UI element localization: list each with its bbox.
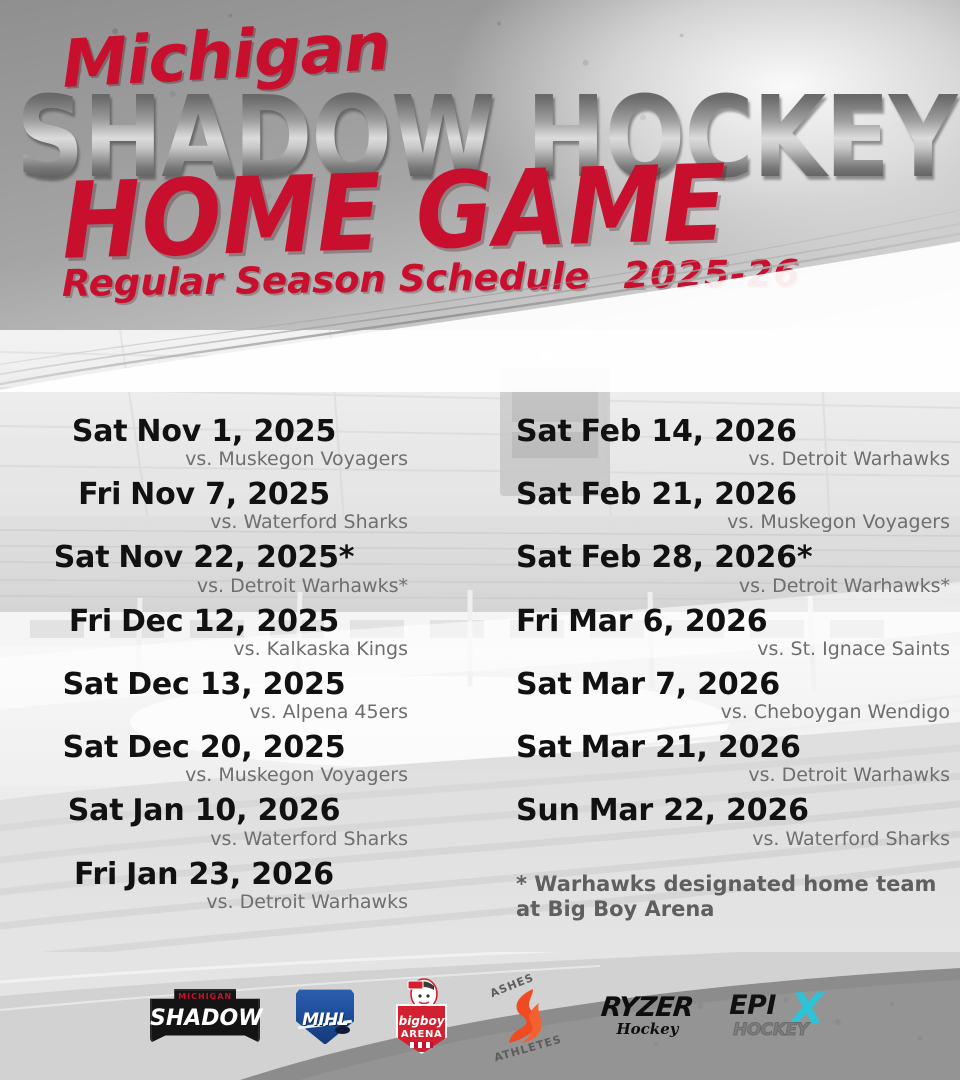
game-opponent: vs. St. Ignace Saints [516,638,960,660]
epix-hockey-text: HOCKEY [733,1020,808,1040]
game-entry: SatJan 10, 2026 vs. Waterford Sharks [0,795,480,849]
checker-stripe-icon [410,1042,434,1048]
game-day-of-week: Sat [63,730,119,765]
game-day-of-week: Sat [516,477,572,512]
schedule-body: SatNov 1, 2025 vs. Muskegon Voyagers Fri… [0,330,960,990]
subtitle-text: Regular Season Schedule [62,255,590,305]
game-day-of-week: Sun [516,793,580,828]
game-opponent: vs. Muskegon Voyagers [0,764,408,786]
game-entry: SunMar 22, 2026 vs. Waterford Sharks [480,795,960,849]
game-entry: SatMar 7, 2026 vs. Cheboygan Wendigo [480,669,960,723]
game-date: SatFeb 28, 2026* [516,542,960,573]
big-boy-logo-text: bigboy [390,1014,454,1028]
game-date-text: Mar 6, 2026 [568,604,767,639]
game-date: SatFeb 21, 2026 [516,479,960,510]
flame-number-two-icon [503,987,543,1045]
sponsor-logo-row: MICHIGAN SHADOW MIHL bigbo [0,952,960,1080]
game-opponent: vs. Detroit Warhawks [516,764,960,786]
game-entry: FriMar 6, 2026 vs. St. Ignace Saints [480,606,960,660]
game-opponent: vs. Detroit Warhawks* [516,575,960,597]
poster-footer: MICHIGAN SHADOW MIHL bigbo [0,952,960,1080]
shadow-logo-top-text: MICHIGAN [150,992,260,1001]
game-opponent: vs. Muskegon Voyagers [0,448,408,470]
game-date-text: Feb 21, 2026 [581,477,797,512]
sponsor-logo-ashes-2-athletes[interactable]: ASHES ATHLETES [487,977,556,1055]
game-date-text: Dec 20, 2025 [127,730,345,765]
game-opponent: vs. Detroit Warhawks [516,448,960,470]
game-date: SatJan 10, 2026 [0,795,408,826]
sponsor-logo-big-boy-arena[interactable]: bigboy ARENA [390,978,454,1054]
game-entry: SatFeb 21, 2026 vs. Muskegon Voyagers [480,479,960,533]
season-years: 2025-26 [623,252,800,297]
shadow-logo-main-text: SHADOW [150,1006,260,1031]
game-entry: SatNov 1, 2025 vs. Muskegon Voyagers [0,416,480,470]
game-day-of-week: Fri [69,604,112,639]
game-date-text: Dec 12, 2025 [121,604,339,639]
game-opponent: vs. Detroit Warhawks* [0,575,408,597]
poster-root: Michigan SHADOW HOCKEY HOME GAME Regular… [0,0,960,1080]
game-date-text: Jan 23, 2026 [126,857,334,892]
sponsor-logo-epix-hockey[interactable]: EPI X HOCKEY [729,990,830,1042]
ryzer-hockey-text: Hockey [617,1020,679,1038]
game-day-of-week: Fri [78,477,121,512]
game-date-text: Jan 10, 2026 [132,793,340,828]
game-day-of-week: Sat [516,730,572,765]
game-day-of-week: Fri [74,857,117,892]
game-date-text: Nov 1, 2025 [136,414,336,449]
epix-logo-text: EPI [729,990,776,1021]
game-day-of-week: Sat [516,667,572,702]
game-date-text: Mar 7, 2026 [581,667,780,702]
big-boy-arena-text: ARENA [390,1029,454,1040]
game-date-text: Mar 22, 2026 [589,793,809,828]
game-entry: SatDec 20, 2025 vs. Muskegon Voyagers [0,732,480,786]
game-date-text: Feb 28, 2026* [581,540,813,575]
game-date: FriMar 6, 2026 [516,606,960,637]
game-entry: SatFeb 28, 2026* vs. Detroit Warhawks* [480,542,960,596]
game-opponent: vs. Waterford Sharks [516,828,960,850]
game-date: SatNov 1, 2025 [0,416,408,447]
game-date-text: Mar 21, 2026 [581,730,801,765]
game-date: SunMar 22, 2026 [516,795,960,826]
game-day-of-week: Sat [516,540,572,575]
game-opponent: vs. Alpena 45ers [0,701,408,723]
ryzer-logo-text: RYZER [589,992,704,1023]
game-date: FriDec 12, 2025 [0,606,408,637]
game-date-text: Dec 13, 2025 [127,667,345,702]
game-date: SatNov 22, 2025* [0,542,408,573]
game-opponent: vs. Waterford Sharks [0,828,408,850]
schedule-column-left: SatNov 1, 2025 vs. Muskegon Voyagers Fri… [0,330,480,990]
game-date-text: Feb 14, 2026 [581,414,797,449]
game-day-of-week: Sat [54,540,110,575]
game-day-of-week: Sat [63,667,119,702]
mihl-logo-text: MIHL [294,1010,356,1030]
game-date: FriJan 23, 2026 [0,859,408,890]
game-date: SatFeb 14, 2026 [516,416,960,447]
game-opponent: vs. Kalkaska Kings [0,638,408,660]
game-day-of-week: Sat [516,414,572,449]
game-entry: FriNov 7, 2025 vs. Waterford Sharks [0,479,480,533]
game-date-text: Nov 22, 2025* [118,540,354,575]
game-day-of-week: Fri [516,604,559,639]
game-entry: FriJan 23, 2026 vs. Detroit Warhawks [0,859,480,913]
sponsor-logo-mihl[interactable]: MIHL [294,986,356,1046]
game-entry: SatDec 13, 2025 vs. Alpena 45ers [0,669,480,723]
game-entry: SatNov 22, 2025* vs. Detroit Warhawks* [0,542,480,596]
sponsor-logo-ryzer-hockey[interactable]: RYZER Hockey [591,990,696,1042]
game-entry: SatMar 21, 2026 vs. Detroit Warhawks [480,732,960,786]
schedule-column-right: SatFeb 14, 2026 vs. Detroit Warhawks Sat… [480,330,960,990]
game-entry: FriDec 12, 2025 vs. Kalkaska Kings [0,606,480,660]
game-date: SatDec 13, 2025 [0,669,408,700]
game-opponent: vs. Cheboygan Wendigo [516,701,960,723]
game-date: SatMar 7, 2026 [516,669,960,700]
game-date: SatDec 20, 2025 [0,732,408,763]
game-opponent: vs. Muskegon Voyagers [516,511,960,533]
game-day-of-week: Sat [68,793,124,828]
game-date: SatMar 21, 2026 [516,732,960,763]
game-date: FriNov 7, 2025 [0,479,408,510]
game-opponent: vs. Detroit Warhawks [0,891,408,913]
game-entry: SatFeb 14, 2026 vs. Detroit Warhawks [480,416,960,470]
schedule-footnote: * Warhawks designated home team at Big B… [480,872,960,923]
game-opponent: vs. Waterford Sharks [0,511,408,533]
game-day-of-week: Sat [72,414,128,449]
schedule-grid: SatNov 1, 2025 vs. Muskegon Voyagers Fri… [0,330,960,990]
game-date-text: Nov 7, 2025 [130,477,330,512]
sponsor-logo-michigan-shadow[interactable]: MICHIGAN SHADOW [150,989,260,1043]
